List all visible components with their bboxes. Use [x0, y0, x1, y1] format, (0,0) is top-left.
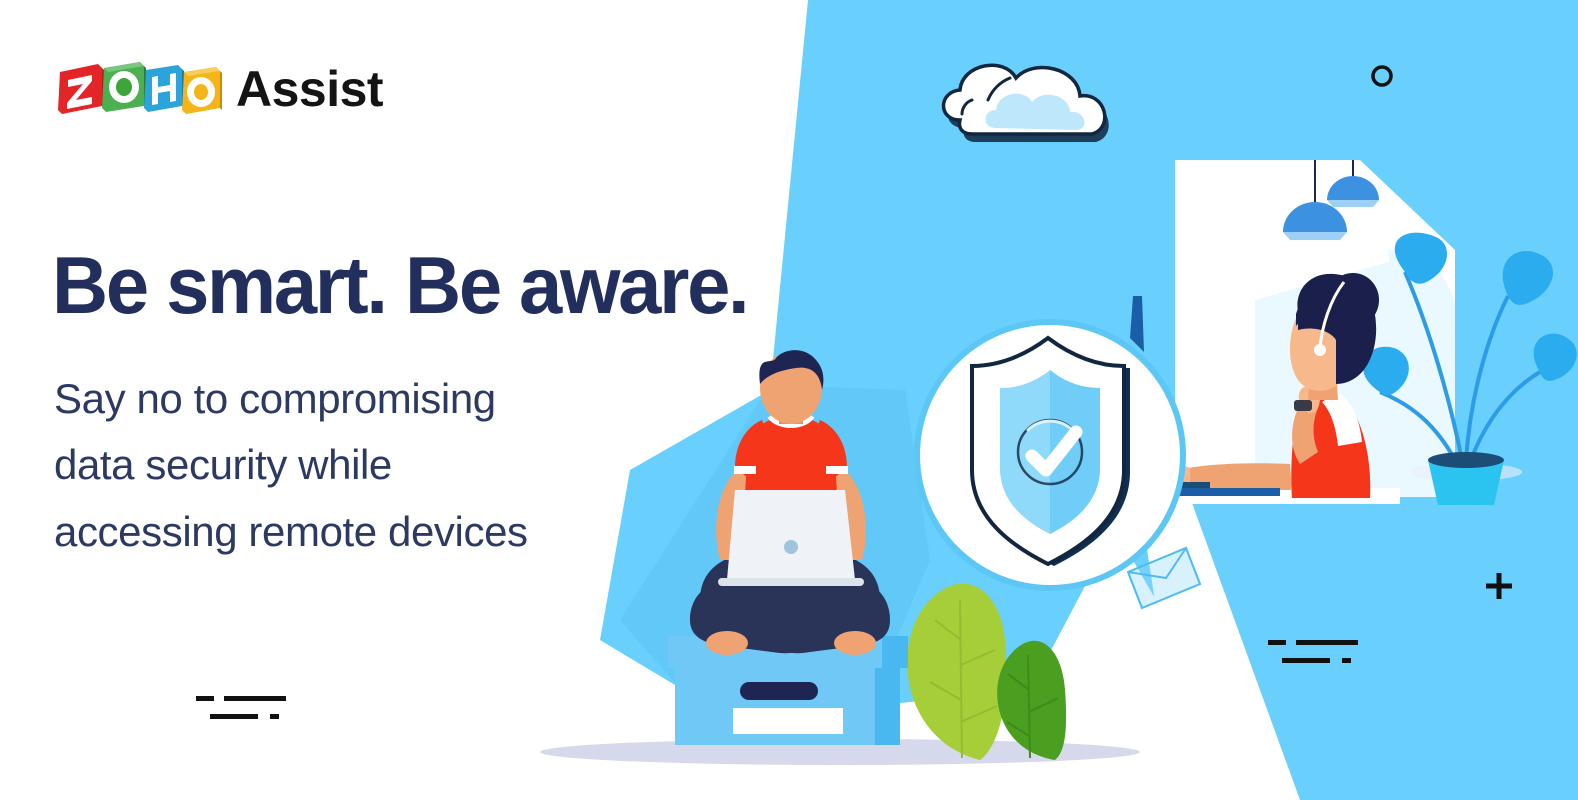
brand-product-name: Assist	[236, 64, 383, 114]
banner-canvas: Assist Be smart. Be aware. Say no to com…	[0, 0, 1578, 800]
circle-decoration	[1368, 62, 1398, 92]
man-with-laptop	[690, 350, 890, 655]
monitor-edge	[1130, 296, 1144, 352]
foliage	[907, 584, 1066, 760]
page-subheadline: Say no to compromising data security whi…	[54, 366, 528, 565]
woman-with-headset	[1150, 273, 1400, 504]
pendant-lamps	[1283, 160, 1379, 240]
brand-logo[interactable]: Assist	[54, 58, 383, 120]
dash-decoration-right	[1268, 636, 1368, 676]
page-headline: Be smart. Be aware.	[52, 245, 747, 328]
headset-earpiece	[1314, 344, 1326, 356]
zoho-logo-icon	[54, 58, 222, 120]
subhead-line-1: Say no to compromising	[54, 366, 528, 432]
subhead-line-2: data security while	[54, 432, 528, 498]
subhead-line-3: accessing remote devices	[54, 499, 528, 565]
box-handle	[740, 682, 818, 700]
potted-plant	[1363, 233, 1577, 505]
box-label	[733, 708, 843, 734]
plus-decoration	[1481, 568, 1517, 604]
cloud-icon	[944, 65, 1109, 142]
security-shield-badge	[914, 319, 1186, 591]
dash-decoration-left	[196, 692, 296, 732]
